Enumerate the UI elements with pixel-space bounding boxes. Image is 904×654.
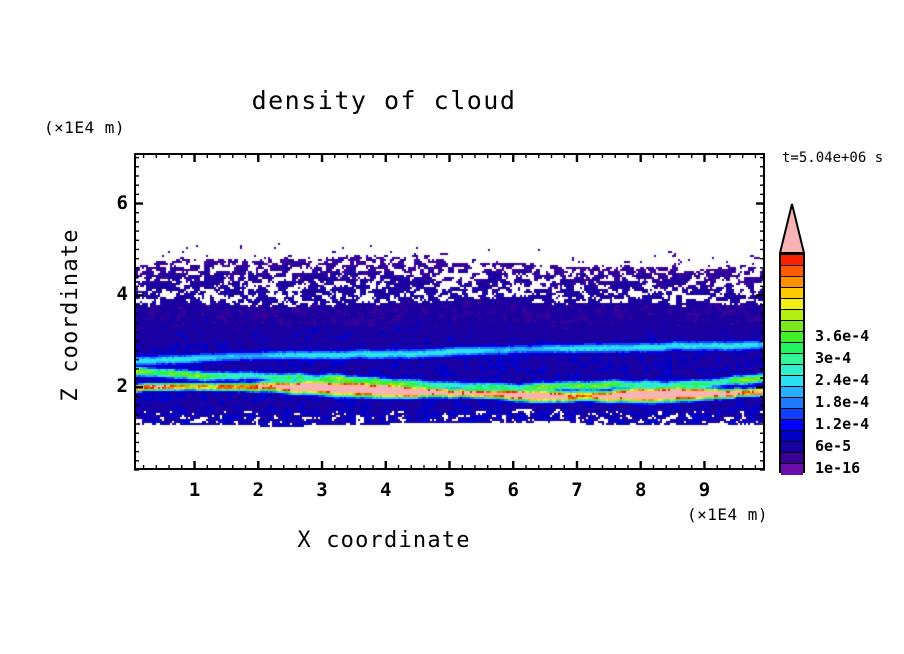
colorbar-tick-label: 6e-5: [815, 437, 851, 455]
y-axis-title: Z coordinate: [58, 215, 83, 415]
colorbar-tick-label: 1.8e-4: [815, 393, 869, 411]
colorbar-segment: [781, 464, 803, 475]
colorbar-segment: [781, 310, 803, 321]
x-tick-label: 1: [180, 479, 210, 501]
x-tick-label: 9: [689, 479, 719, 501]
colorbar-tick-label: 3e-4: [815, 349, 851, 367]
page-title: density of cloud: [0, 86, 768, 115]
colorbar-segment: [781, 376, 803, 387]
contour-field: [134, 153, 765, 470]
figure-canvas: density of cloud (×1E4 m) (×1E4 m) X coo…: [0, 0, 904, 654]
colorbar-segment: [781, 288, 803, 299]
colorbar-tick-label: 1.2e-4: [815, 415, 869, 433]
colorbar-segment: [781, 332, 803, 343]
colorbar-segment: [781, 255, 803, 266]
colorbar-over-arrow-icon: [779, 203, 805, 255]
colorbar-segment: [781, 387, 803, 398]
colorbar-segment: [781, 398, 803, 409]
x-tick-label: 3: [307, 479, 337, 501]
colorbar-segment: [781, 442, 803, 453]
colorbar-segment: [781, 277, 803, 288]
colorbar-segment: [781, 431, 803, 442]
x-tick-label: 6: [498, 479, 528, 501]
x-tick-label: 8: [626, 479, 656, 501]
colorbar-tick-label: 2.4e-4: [815, 371, 869, 389]
contour-plot-area: [134, 153, 765, 470]
x-tick-label: 7: [562, 479, 592, 501]
colorbar-body: [779, 253, 805, 473]
y-tick-label: 2: [98, 375, 128, 397]
colorbar-segment: [781, 354, 803, 365]
colorbar-segment: [781, 453, 803, 464]
timestamp-annotation: t=5.04e+06 s: [782, 150, 883, 166]
y-axis-unit-label: (×1E4 m): [44, 118, 125, 137]
x-axis-title: X coordinate: [0, 528, 768, 553]
x-tick-label: 2: [243, 479, 273, 501]
colorbar-segment: [781, 299, 803, 310]
colorbar-segment: [781, 321, 803, 332]
y-tick-label: 6: [98, 192, 128, 214]
colorbar-segment: [781, 420, 803, 431]
colorbar-segment: [781, 409, 803, 420]
x-tick-label: 5: [435, 479, 465, 501]
colorbar-segment: [781, 343, 803, 354]
x-tick-label: 4: [371, 479, 401, 501]
colorbar-tick-label: 1e-16: [815, 459, 860, 477]
colorbar-segment: [781, 266, 803, 277]
x-axis-unit-label: (×1E4 m): [687, 505, 768, 524]
colorbar-tick-label: 3.6e-4: [815, 327, 869, 345]
y-tick-label: 4: [98, 283, 128, 305]
colorbar-segment: [781, 365, 803, 376]
